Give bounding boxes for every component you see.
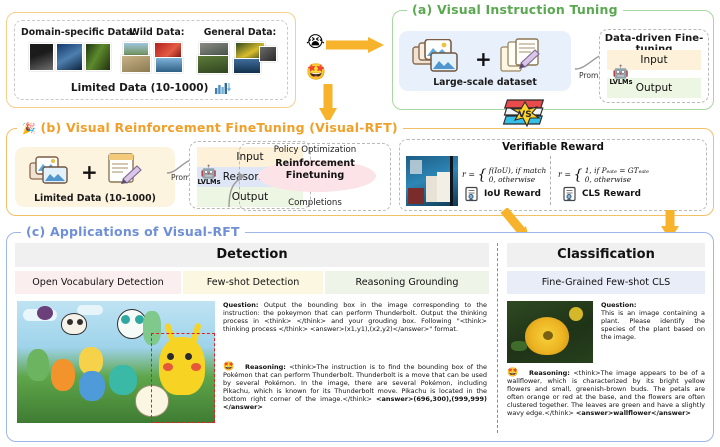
image-stack-icon [29,155,73,185]
section-b-panel: 🎉 (b) Visual Reinforcement FineTuning (V… [6,128,714,216]
thumb-micro [85,43,111,71]
policy-optimization-label: Policy Optimization [240,145,390,155]
detection-reasoning-label: Reasoning: [245,363,286,371]
large-scale-dataset-box: + Large-scale dataset [399,31,571,91]
section-a-title: (a) Visual Instruction Tuning [407,2,623,17]
thumb-field [197,55,229,74]
classification-reasoning: Reasoning: <think>The image appears to b… [507,369,705,418]
large-scale-dataset-label: Large-scale dataset [399,77,571,88]
tab-few-shot-detection[interactable]: Few-shot Detection [183,271,323,294]
category-header-detection: Detection [15,243,489,267]
detection-question-text: Output the bounding box in the image cor… [223,301,487,333]
document-edit-icon [107,153,147,185]
reinforcement-finetuning-label: ReinforcementFinetuning [240,158,390,181]
data-driven-finetuning-box: Data-driven Fine-tuning Input Output 🤖 L… [599,29,709,103]
limited-data-caption: Limited Data (10-1000) [15,82,287,94]
classification-reasoning-label: Reasoning: [529,369,570,377]
thumb-xray [29,43,54,71]
verifiable-reward-title: Verifiable Reward [400,142,706,153]
detection-reasoning: Reasoning: <think>The instruction is to … [223,363,487,412]
vs-badge-text: VS [518,110,531,120]
iou-example-image [406,156,458,206]
data-column-header: Domain-specific Data: [21,27,117,38]
verifiable-reward-box: Verifiable Reward r = { f(IoU), if match… [399,139,707,211]
thumb-satellite [56,43,83,71]
yellow-wallflower-image [507,301,593,363]
data-column-header: Wild Data: [119,27,195,38]
lvlm-label: LVLMs [194,178,224,186]
classification-question-text: This is an image containing a plant. Ple… [601,309,705,341]
image-stack-icon [411,39,463,73]
arrow-to-section-a [324,36,386,54]
column-divider [497,243,498,433]
detection-question-label: Question: [223,301,258,309]
section-c-panel: (c) Applications of Visual-RFT Detection… [6,232,714,442]
cls-reward-formula: r = { 1, if Pₑₐₜₑ = GTₑₐₜₑ 0, otherwise [558,166,649,184]
section-b-title: 🎉 (b) Visual Reinforcement FineTuning (V… [17,120,403,135]
bar-chart-icon [215,82,231,94]
data-column-header: General Data: [193,27,287,38]
tab-open-vocabulary-detection[interactable]: Open Vocabulary Detection [15,271,181,294]
thumb-extra [259,46,277,62]
detection-question: Question: Output the bounding box in the… [223,301,487,333]
reward-divider [550,156,551,205]
data-column-general: General Data: [193,27,287,76]
figure-root: Domain-specific Data: Wild Data: [0,0,720,447]
limited-data-inner: Domain-specific Data: Wild Data: [14,20,288,100]
reward-doc-icon [464,186,480,202]
thumb-sea [233,58,261,74]
category-header-classification: Classification [507,243,705,267]
star-struck-emoji-icon: 🤩 [306,64,326,80]
arrow-policy-back [175,151,193,205]
limited-data-panel: Domain-specific Data: Wild Data: [6,12,296,108]
completions-label: Completions [240,198,390,208]
lvlm-label: LVLMs [606,78,636,86]
pokemon-group-image [17,301,215,423]
iou-reward-formula: r = { f(IoU), if match 0, otherwise [462,166,546,184]
limited-data-box-b: + Limited Data (10-1000) [15,147,175,207]
plus-sign-a: + [475,49,492,69]
arrow-completions-loop [225,167,247,209]
thumb-group-domain [21,42,117,76]
plus-sign-b: + [81,162,98,182]
classification-question-label: Question: [601,301,636,309]
thumb-group-wild [119,42,195,76]
limited-data-label-b: Limited Data (10-1000) [15,193,175,204]
iou-reward-label: IoU Reward [484,189,541,199]
thumb-bird [121,55,151,73]
detection-bounding-box [151,333,215,423]
section-a-panel: (a) Visual Instruction Tuning + [392,10,714,110]
thumb-boat [155,57,183,73]
crying-emoji-icon: 😭 [306,34,325,50]
document-stack-icon [499,38,547,74]
vs-badge: VS [494,98,556,128]
tab-reasoning-grounding[interactable]: Reasoning Grounding [325,271,489,294]
thumb-group-general [193,42,287,76]
reward-doc-icon [562,186,578,202]
lvlm-badge-b: 🤖 LVLMs [194,166,224,186]
section-c-title: (c) Applications of Visual-RFT [21,224,245,239]
policy-optimization-box: Policy Optimization ReinforcementFinetun… [239,143,391,211]
data-column-wild: Wild Data: [119,27,195,76]
cls-reward-label: CLS Reward [582,189,641,199]
classification-answer-text: <answer>wallflower</answer> [576,409,691,417]
data-column-domain: Domain-specific Data: [21,27,117,76]
party-popper-icon: 🎉 [22,122,36,135]
classification-question: Question: This is an image containing a … [601,301,705,341]
lvlm-badge-a: 🤖 LVLMs [606,66,636,86]
tab-fine-grained-few-shot-cls[interactable]: Fine-Grained Few-shot CLS [507,271,705,294]
